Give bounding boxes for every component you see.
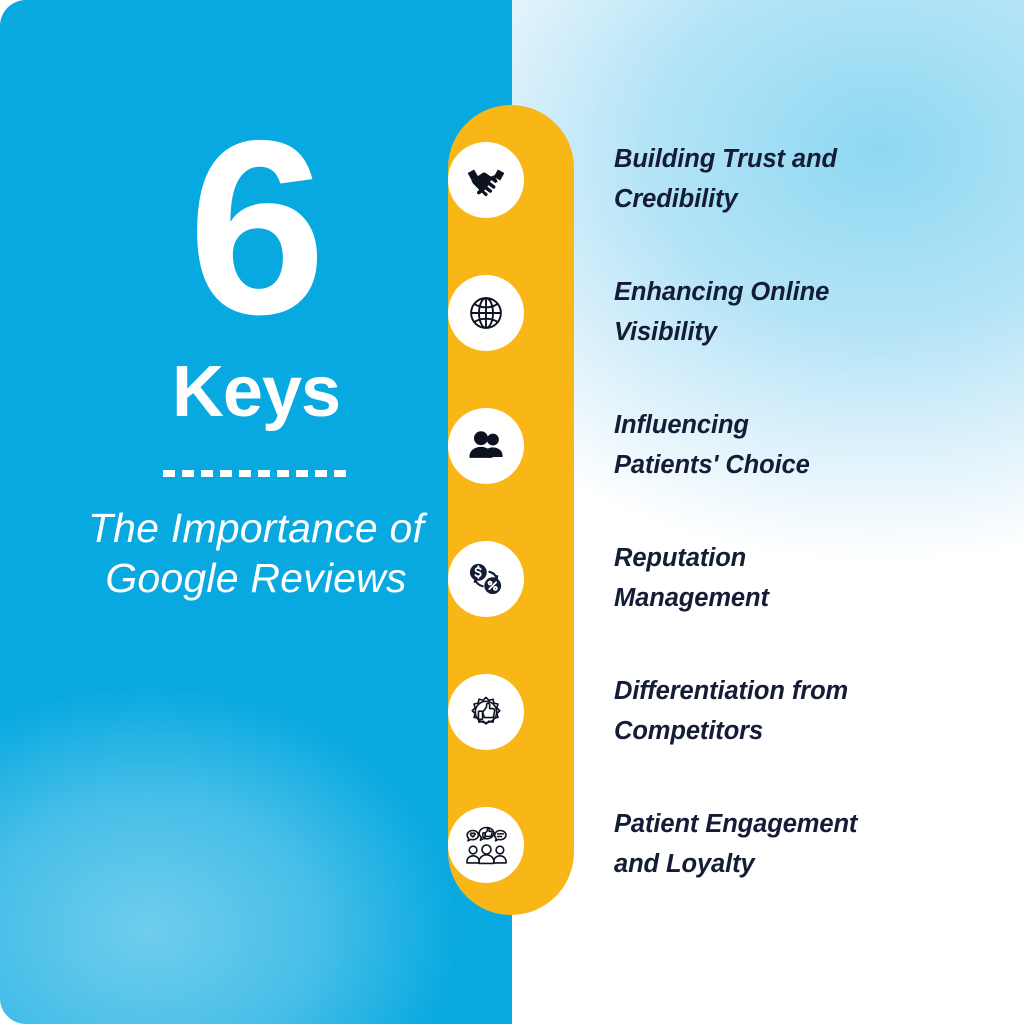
list-item[interactable]: Enhancing Online Visibility xyxy=(448,275,968,351)
two-people-icon xyxy=(448,408,524,484)
people-feedback-bubbles-icon xyxy=(448,807,524,883)
list-item-label: Influencing Patients' Choice xyxy=(614,406,810,485)
infographic-poster: 6 Keys The Importance of Google Reviews … xyxy=(0,0,1024,1024)
list-item[interactable]: Reputation Management xyxy=(448,541,968,617)
list-item[interactable]: Building Trust and Credibility xyxy=(448,142,968,218)
list-item-label: Patient Engagement and Loyalty xyxy=(614,805,857,884)
list-item[interactable]: Patient Engagement and Loyalty xyxy=(448,807,968,883)
items-list: Building Trust and Credibility Enhancing… xyxy=(0,0,1024,1024)
list-item-label: Reputation Management xyxy=(614,539,769,618)
list-item[interactable]: Influencing Patients' Choice xyxy=(448,408,968,484)
list-item-label: Differentiation from Competitors xyxy=(614,672,848,751)
globe-icon xyxy=(448,275,524,351)
list-item-label: Building Trust and Credibility xyxy=(614,140,837,219)
handshake-icon xyxy=(448,142,524,218)
list-item-label: Enhancing Online Visibility xyxy=(614,273,829,352)
thumbs-up-badge-icon xyxy=(448,674,524,750)
list-item[interactable]: Differentiation from Competitors xyxy=(448,674,968,750)
dollar-percent-exchange-icon xyxy=(448,541,524,617)
